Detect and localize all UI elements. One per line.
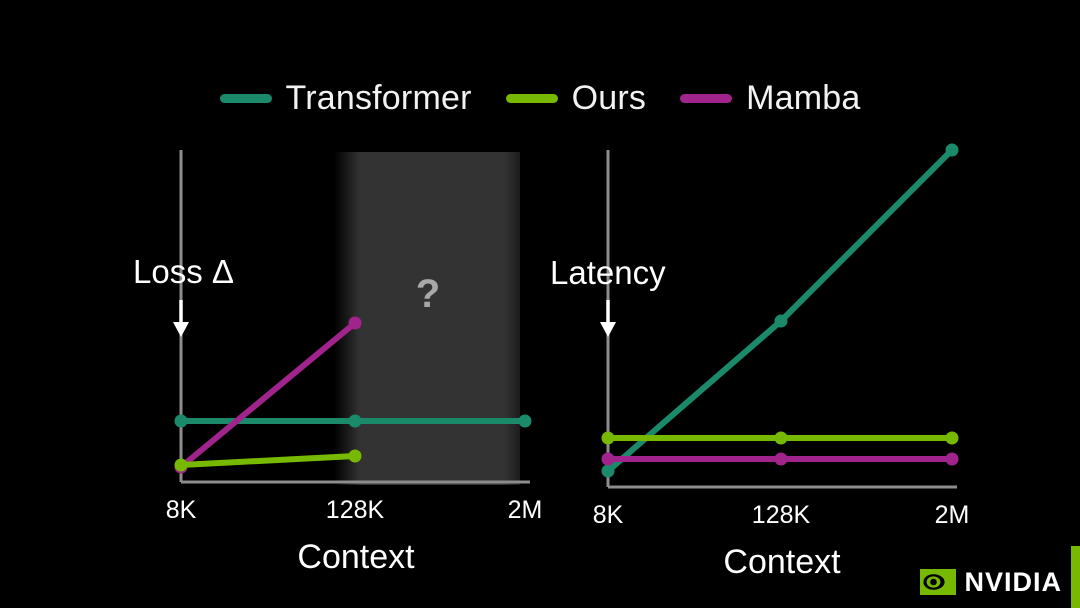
down-arrow-icon <box>600 300 616 337</box>
line-swatch-icon <box>220 94 272 103</box>
series-point-transformer <box>946 144 959 157</box>
xtick-label-128k: 128K <box>326 496 385 524</box>
xtick-label-128k: 128K <box>752 501 811 529</box>
series-point-transformer <box>519 415 532 428</box>
series-point-ours <box>349 450 362 463</box>
legend-label-mamba: Mamba <box>746 81 860 115</box>
series-line-ours <box>181 456 355 465</box>
legend-label-ours: Ours <box>572 81 646 115</box>
series-point-mamba <box>602 453 615 466</box>
question-mark-annotation: ? <box>416 272 440 316</box>
down-arrow-icon <box>173 300 189 337</box>
x-axis-title-context: Context <box>723 543 841 581</box>
series-point-transformer <box>775 315 788 328</box>
legend-label-transformer: Transformer <box>286 81 472 115</box>
series-point-mamba <box>349 317 362 330</box>
x-axis-title-context: Context <box>297 538 415 576</box>
xtick-label-2m: 2M <box>935 501 970 529</box>
chart-latency: Latency 8K 128K 2M Context <box>545 140 1005 580</box>
legend-item-mamba: Mamba <box>680 81 860 115</box>
slide-canvas: Transformer Ours Mamba ? <box>0 0 1080 608</box>
series-point-transformer <box>175 415 188 428</box>
series-point-mamba <box>946 453 959 466</box>
brand-accent-bar <box>1071 546 1080 608</box>
series-point-mamba <box>775 453 788 466</box>
line-swatch-icon <box>680 94 732 103</box>
line-swatch-icon <box>506 94 558 103</box>
legend-item-transformer: Transformer <box>220 81 472 115</box>
chart-loss-svg: ? Loss Δ 8K 128K <box>120 140 560 580</box>
nvidia-logo: NVIDIA <box>920 566 1062 598</box>
series-point-ours <box>602 432 615 445</box>
chart-legend: Transformer Ours Mamba <box>0 72 1080 124</box>
series-point-ours <box>175 459 188 472</box>
unknown-region-rect <box>334 152 520 485</box>
series-line-transformer <box>608 150 952 471</box>
series-point-transformer <box>602 465 615 478</box>
series-point-ours <box>775 432 788 445</box>
xtick-label-8k: 8K <box>166 496 197 524</box>
y-axis-caption-latency: Latency <box>550 254 666 291</box>
xtick-label-8k: 8K <box>593 501 624 529</box>
chart-latency-svg: Latency 8K 128K 2M Context <box>545 140 1005 580</box>
legend-item-ours: Ours <box>506 81 646 115</box>
series-point-transformer <box>349 415 362 428</box>
chart-loss-delta: ? Loss Δ 8K 128K <box>120 140 560 580</box>
nvidia-wordmark: NVIDIA <box>964 569 1062 596</box>
nvidia-eye-icon <box>920 569 956 595</box>
series-line-mamba <box>181 323 355 467</box>
y-axis-caption-loss: Loss Δ <box>133 253 234 290</box>
series-point-ours <box>946 432 959 445</box>
xtick-label-2m: 2M <box>508 496 543 524</box>
